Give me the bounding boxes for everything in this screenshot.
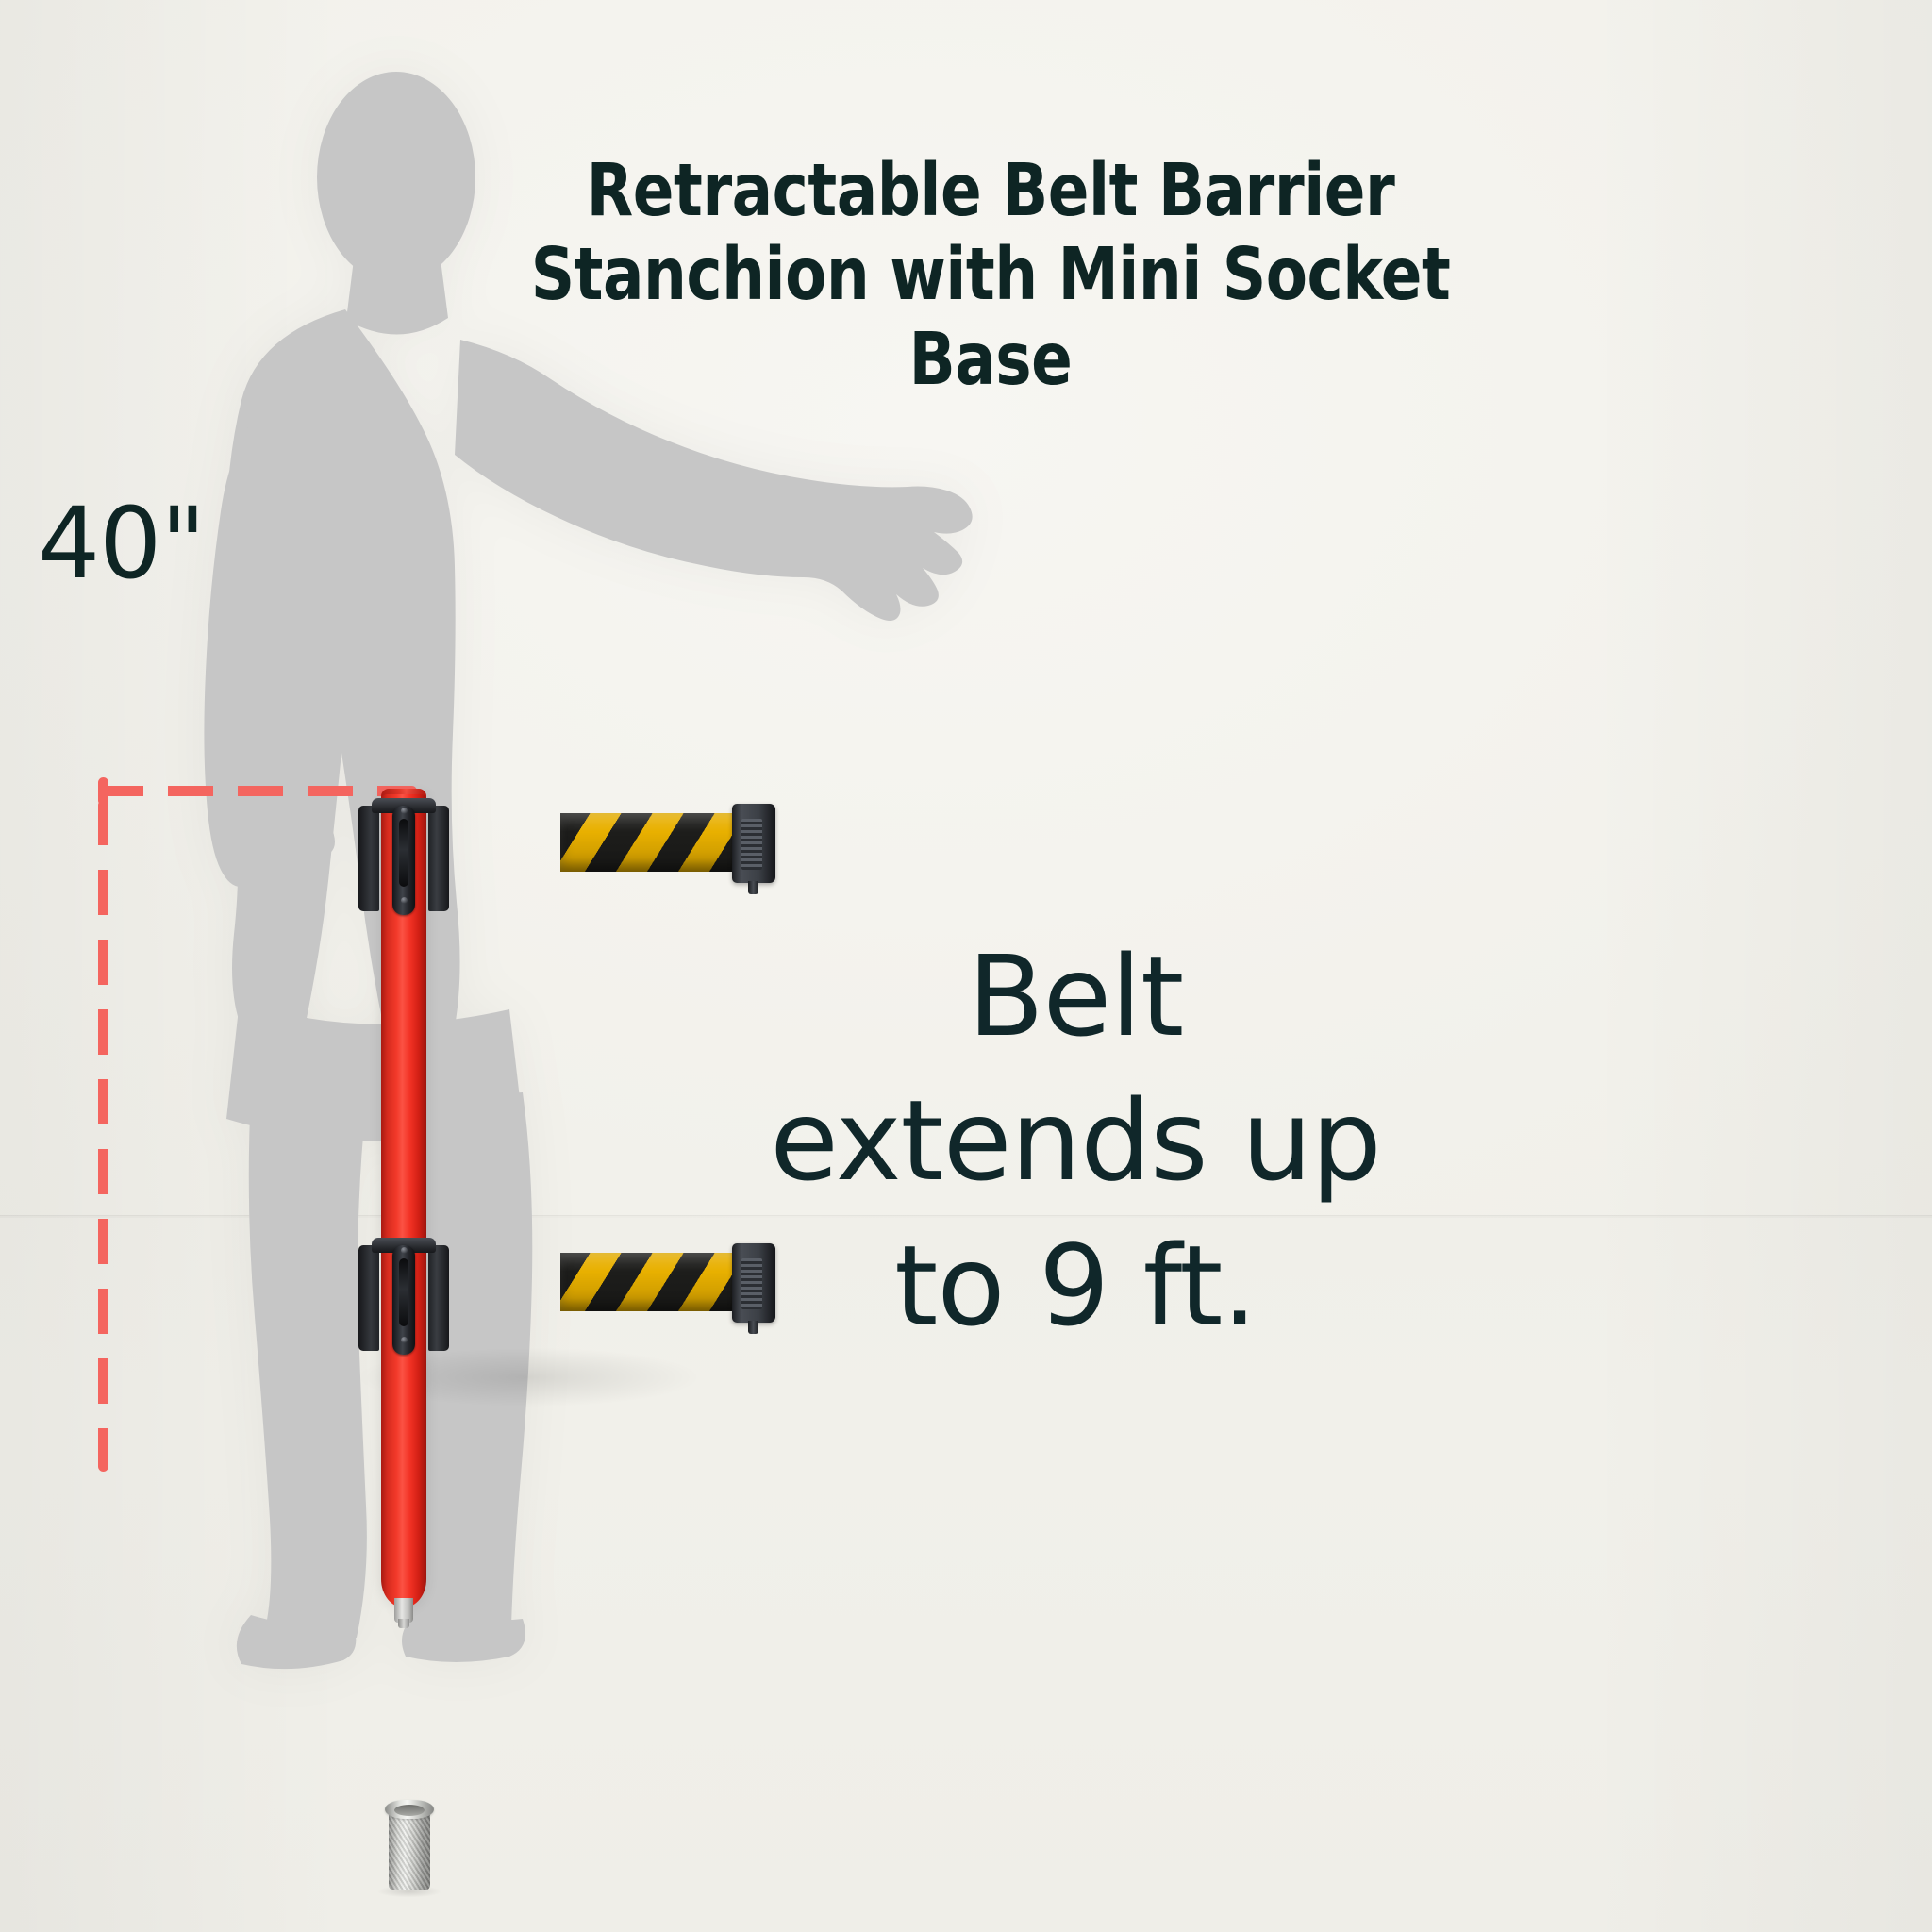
page-title: Retractable Belt Barrier Stanchion with … <box>446 149 1534 402</box>
lower-belt-cassette <box>358 1238 449 1362</box>
infographic-canvas: Retractable Belt Barrier Stanchion with … <box>0 0 1932 1932</box>
upper-belt-cassette <box>358 798 449 923</box>
belt-length-caption: Belt extends up to 9 ft. <box>717 924 1434 1358</box>
upper-cassette-right-plate <box>428 806 449 911</box>
upper-cassette-screw-bottom <box>401 897 408 904</box>
socket-base-opening <box>394 1805 425 1816</box>
upper-cassette-left-plate <box>358 806 379 911</box>
upper-cassette-latch-slot <box>399 819 408 887</box>
title-line-2: Stanchion with Mini Socket Base <box>446 233 1534 402</box>
socket-base-body <box>389 1807 430 1890</box>
title-line-1: Retractable Belt Barrier <box>587 149 1395 233</box>
lower-cassette-right-plate <box>428 1245 449 1351</box>
upper-cassette-screw-top <box>401 808 408 814</box>
lower-cassette-left-plate <box>358 1245 379 1351</box>
upper-clip-ribs <box>741 819 762 870</box>
height-dimension-label: 40" <box>38 494 205 592</box>
post-foot-tip <box>398 1619 409 1628</box>
upper-clip-peg <box>748 881 758 894</box>
lower-cassette-latch-slot <box>399 1258 408 1326</box>
dimension-line-horizontal <box>98 786 417 796</box>
caption-line-2: extends up <box>717 1069 1434 1213</box>
caption-line-3: to 9 ft. <box>717 1214 1434 1358</box>
socket-base-icon <box>385 1794 434 1892</box>
lower-cassette-screw-top <box>401 1247 408 1254</box>
lower-cassette-screw-bottom <box>401 1337 408 1343</box>
upper-belt-end-clip <box>732 804 775 883</box>
dimension-line-vertical <box>98 800 108 1472</box>
caption-line-1: Belt <box>717 924 1434 1069</box>
